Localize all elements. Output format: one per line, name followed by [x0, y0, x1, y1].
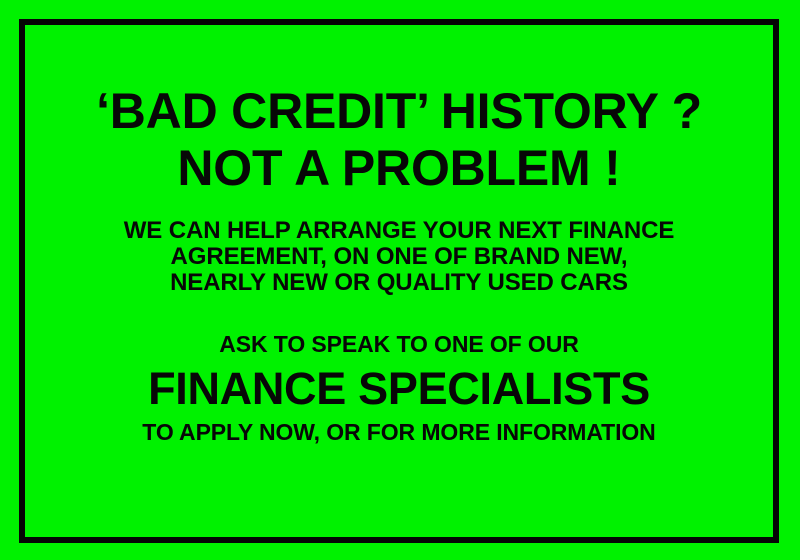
headline-block: ‘BAD CREDIT’ HISTORY ? NOT A PROBLEM ! [25, 83, 773, 197]
cta-lead-text: ASK TO SPEAK TO ONE OF OUR [25, 331, 773, 358]
headline-line-1: ‘BAD CREDIT’ HISTORY ? [25, 83, 773, 140]
poster: ‘BAD CREDIT’ HISTORY ? NOT A PROBLEM ! W… [0, 0, 800, 560]
body-line-2: AGREEMENT, ON ONE OF BRAND NEW, [25, 244, 773, 270]
body-line-3: NEARLY NEW OR QUALITY USED CARS [25, 270, 773, 296]
cta-headline: FINANCE SPECIALISTS [25, 363, 773, 415]
poster-content: ‘BAD CREDIT’ HISTORY ? NOT A PROBLEM ! W… [25, 25, 773, 537]
call-to-action-block: ASK TO SPEAK TO ONE OF OUR FINANCE SPECI… [25, 331, 773, 446]
headline-line-2: NOT A PROBLEM ! [25, 140, 773, 197]
body-paragraph: WE CAN HELP ARRANGE YOUR NEXT FINANCE AG… [25, 218, 773, 296]
body-line-1: WE CAN HELP ARRANGE YOUR NEXT FINANCE [25, 218, 773, 244]
cta-tail-text: TO APPLY NOW, OR FOR MORE INFORMATION [25, 419, 773, 446]
